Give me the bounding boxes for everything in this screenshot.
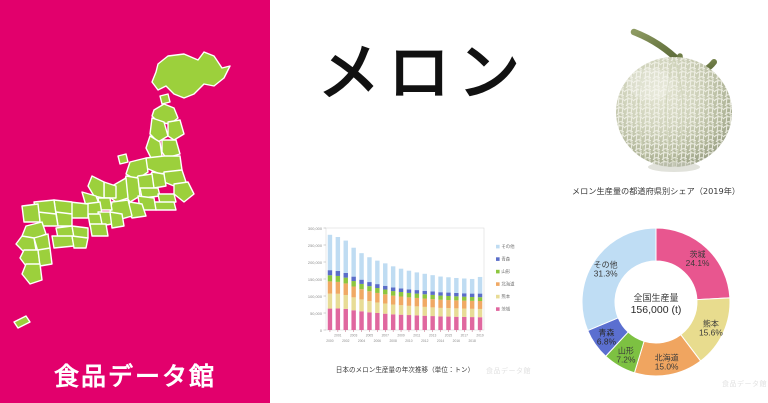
bar-segment xyxy=(470,309,474,317)
pie-slice-value: 7.2% xyxy=(616,354,636,364)
bar-segment xyxy=(438,300,442,308)
bar-x-tick-label: 2001 xyxy=(334,334,342,338)
bar-segment xyxy=(344,278,348,284)
bar-segment xyxy=(454,293,458,296)
donut-center-label: 全国生産量 xyxy=(633,292,678,304)
melon-photo xyxy=(588,16,760,181)
bar-segment xyxy=(446,300,450,308)
japan-map xyxy=(8,46,262,346)
bar-chart-title: 日本のメロン生産量の年次推移（単位：トン） xyxy=(336,365,474,374)
bar-segment xyxy=(336,237,340,271)
bar-segment xyxy=(336,282,340,294)
bar-segment xyxy=(415,290,419,294)
bar-segment xyxy=(328,270,332,275)
bar-segment xyxy=(328,281,332,293)
bar-segment xyxy=(375,313,379,330)
bar-segment xyxy=(430,295,434,299)
bar-segment xyxy=(438,316,442,330)
bar-segment xyxy=(478,277,482,294)
pie-slice-value: 15.6% xyxy=(699,327,723,337)
bar-segment xyxy=(367,257,371,282)
bar-segment xyxy=(367,312,371,330)
bar-segment xyxy=(351,310,355,330)
bar-segment xyxy=(430,316,434,330)
pie-chart-title: メロン生産量の都道府県別シェア（2019年） xyxy=(572,186,740,196)
bar-segment xyxy=(399,305,403,315)
bar-segment xyxy=(391,287,395,291)
bar-y-tick-label: 250,000 xyxy=(308,243,323,248)
bar-y-tick-label: 100,000 xyxy=(308,294,323,299)
bar-segment xyxy=(351,281,355,286)
bar-segment xyxy=(383,314,387,330)
bar-segment xyxy=(407,289,411,293)
bar-x-tick-label: 2000 xyxy=(326,339,334,343)
bar-segment xyxy=(470,301,474,309)
bar-segment xyxy=(367,286,371,291)
bar-x-tick-label: 2010 xyxy=(405,339,413,343)
bar-segment xyxy=(454,308,458,316)
bar-segment xyxy=(399,288,403,292)
bar-segment xyxy=(391,314,395,330)
bar-segment xyxy=(351,248,355,277)
bar-segment xyxy=(454,296,458,300)
bar-segment xyxy=(430,307,434,316)
bar-segment xyxy=(430,275,434,291)
bar-x-tick-label: 2003 xyxy=(350,334,358,338)
bar-segment xyxy=(359,289,363,299)
bar-segment xyxy=(462,317,466,330)
bar-segment xyxy=(336,308,340,330)
bar-segment xyxy=(423,291,427,294)
bar-segment xyxy=(359,299,363,311)
bar-segment xyxy=(391,266,395,287)
bar-segment xyxy=(462,278,466,293)
bar-segment xyxy=(336,271,340,276)
bar-segment xyxy=(478,309,482,317)
bar-segment xyxy=(462,309,466,317)
bar-segment xyxy=(470,297,474,301)
bar-x-tick-label: 2002 xyxy=(342,339,350,343)
pie-slice-value: 24.1% xyxy=(686,258,710,268)
bar-segment xyxy=(344,273,348,278)
bar-segment xyxy=(383,294,387,303)
bar-segment xyxy=(454,300,458,308)
annual-production-bar-chart: 050,000100,000150,000200,000250,000300,0… xyxy=(288,222,540,380)
bar-legend-swatch xyxy=(496,295,500,299)
bar-x-tick-label: 2008 xyxy=(389,339,397,343)
bar-segment xyxy=(407,293,411,297)
pie-chart-watermark: 食品データ館 xyxy=(722,379,767,389)
bar-segment xyxy=(446,293,450,296)
bar-segment xyxy=(446,277,450,292)
bar-x-tick-label: 2018 xyxy=(468,339,476,343)
bar-segment xyxy=(399,315,403,330)
bar-segment xyxy=(470,317,474,330)
bar-x-tick-label: 2005 xyxy=(366,334,374,338)
bar-segment xyxy=(415,315,419,330)
bar-segment xyxy=(407,297,411,306)
bar-segment xyxy=(399,292,403,296)
bar-segment xyxy=(328,294,332,309)
bar-legend-swatch xyxy=(496,245,500,249)
bar-legend-swatch xyxy=(496,257,500,261)
infographic-canvas: 食品データ館 メロン xyxy=(0,0,768,403)
pie-slice-value: 31.3% xyxy=(594,268,618,278)
brand-panel: 食品データ館 xyxy=(0,0,270,403)
bar-segment xyxy=(454,278,458,293)
bar-legend-swatch xyxy=(496,270,500,274)
bar-y-tick-label: 150,000 xyxy=(308,277,323,282)
bar-segment xyxy=(415,306,419,315)
bar-segment xyxy=(423,294,427,298)
bar-segment xyxy=(478,317,482,330)
bar-y-tick-label: 200,000 xyxy=(308,260,323,265)
bar-segment xyxy=(344,283,348,295)
bar-y-tick-label: 50,000 xyxy=(310,311,323,316)
bar-segment xyxy=(328,275,332,281)
bar-segment xyxy=(328,235,332,270)
bar-segment xyxy=(415,272,419,290)
bar-segment xyxy=(415,294,419,298)
bar-segment xyxy=(391,305,395,315)
bar-legend-label: 茨城 xyxy=(501,306,510,313)
page-title: メロン xyxy=(278,42,568,104)
bar-segment xyxy=(423,299,427,307)
bar-x-tick-label: 2007 xyxy=(382,334,390,338)
bar-segment xyxy=(407,315,411,330)
bar-segment xyxy=(446,317,450,330)
bar-x-tick-label: 2013 xyxy=(429,334,437,338)
bar-x-tick-label: 2012 xyxy=(421,339,429,343)
bar-segment xyxy=(375,261,379,284)
bar-segment xyxy=(438,308,442,317)
bar-segment xyxy=(430,299,434,307)
bar-legend-swatch xyxy=(496,282,500,286)
bar-segment xyxy=(438,292,442,295)
bar-segment xyxy=(423,307,427,316)
bar-segment xyxy=(351,286,355,297)
bar-segment xyxy=(375,288,379,293)
bar-segment xyxy=(351,297,355,310)
bar-plot-frame xyxy=(326,228,484,330)
bar-segment xyxy=(344,309,348,330)
bar-segment xyxy=(470,294,474,297)
bar-x-tick-label: 2006 xyxy=(374,339,382,343)
brand-logo-text: 食品データ館 xyxy=(0,357,270,393)
bar-segment xyxy=(375,302,379,313)
bar-segment xyxy=(478,297,482,301)
bar-segment xyxy=(478,301,482,309)
bar-segment xyxy=(478,294,482,298)
bar-x-tick-label: 2017 xyxy=(461,334,469,338)
bar-segment xyxy=(336,276,340,282)
bar-segment xyxy=(367,282,371,286)
bar-segment xyxy=(383,286,387,290)
bar-segment xyxy=(383,303,387,313)
bar-segment xyxy=(391,296,395,305)
bar-segment xyxy=(446,296,450,300)
bar-segment xyxy=(454,317,458,330)
bar-legend-label: 青森 xyxy=(501,256,510,263)
bar-segment xyxy=(415,298,419,306)
bar-segment xyxy=(367,301,371,312)
bar-segment xyxy=(359,311,363,330)
bar-segment xyxy=(359,284,363,289)
pie-slice-value: 6.8% xyxy=(597,337,617,347)
bar-segment xyxy=(470,279,474,294)
bar-segment xyxy=(423,316,427,330)
bar-segment xyxy=(359,253,363,280)
bar-x-tick-label: 2014 xyxy=(437,339,445,343)
bar-segment xyxy=(423,274,427,291)
bar-segment xyxy=(359,280,363,284)
pie-slice-value: 15.0% xyxy=(655,362,679,372)
bar-segment xyxy=(344,241,348,273)
bar-y-tick-label: 300,000 xyxy=(308,226,323,231)
bar-chart-watermark: 食品データ館 xyxy=(486,366,531,376)
bar-legend-label: 北海道 xyxy=(501,281,515,288)
bar-segment xyxy=(383,263,387,285)
bar-segment xyxy=(407,271,411,290)
bar-legend-label: 山形 xyxy=(501,268,510,275)
bar-segment xyxy=(446,308,450,316)
bar-segment xyxy=(375,284,379,288)
bar-segment xyxy=(438,296,442,300)
bar-segment xyxy=(462,293,466,296)
bar-segment xyxy=(399,269,403,289)
bar-segment xyxy=(407,306,411,315)
bar-legend-label: 熊本 xyxy=(501,293,510,300)
bar-segment xyxy=(375,293,379,303)
bar-segment xyxy=(462,301,466,309)
bar-segment xyxy=(462,297,466,301)
bar-segment xyxy=(391,291,395,296)
bar-legend-label: その他 xyxy=(501,243,515,250)
bar-segment xyxy=(367,291,371,301)
bar-x-tick-label: 2011 xyxy=(413,334,420,338)
bar-segment xyxy=(399,297,403,306)
bar-x-tick-label: 2004 xyxy=(358,339,366,343)
bar-x-tick-label: 2016 xyxy=(453,339,461,343)
bar-segment xyxy=(430,291,434,294)
bar-segment xyxy=(344,295,348,309)
bar-segment xyxy=(383,290,387,295)
donut-center-value: 156,000 (t) xyxy=(631,304,682,316)
bar-x-tick-label: 2009 xyxy=(397,334,405,338)
panel-divider xyxy=(270,0,273,403)
bar-x-tick-label: 2019 xyxy=(476,334,484,338)
prefecture-share-pie-chart: メロン生産量の都道府県別シェア（2019年）茨城24.1%熊本15.6%北海道1… xyxy=(548,182,764,397)
bar-x-tick-label: 2015 xyxy=(445,334,453,338)
bar-segment xyxy=(351,277,355,281)
bar-y-tick-label: 0 xyxy=(320,328,323,333)
bar-legend-swatch xyxy=(496,307,500,311)
bar-segment xyxy=(336,294,340,309)
bar-segment xyxy=(438,277,442,293)
bar-segment xyxy=(328,309,332,330)
